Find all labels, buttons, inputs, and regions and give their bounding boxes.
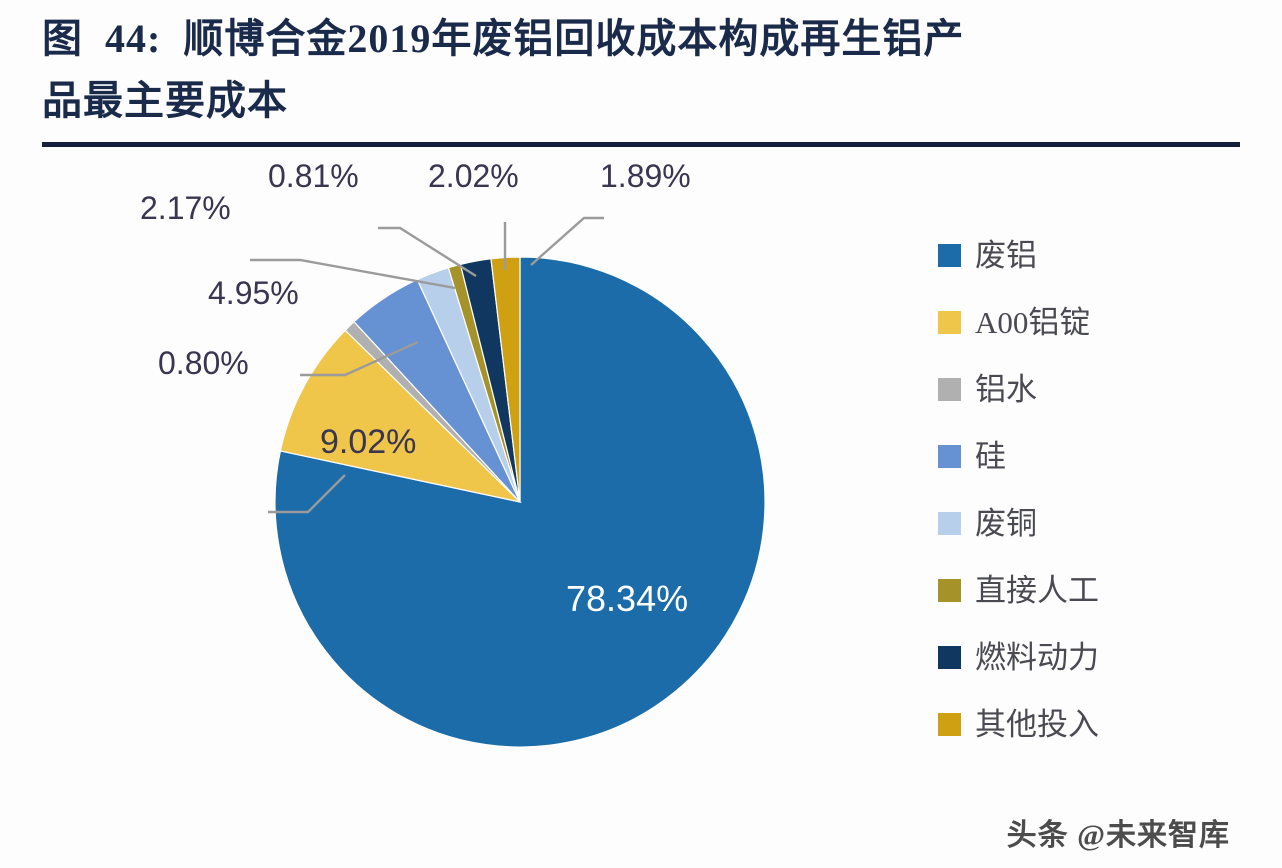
legend-item-label: A00铝锭	[975, 307, 1090, 338]
page-title: 图 44: 顺博合金2019年废铝回收成本构成再生铝产 品最主要成本	[42, 8, 1232, 132]
legend-item[interactable]: 废铝	[938, 238, 1238, 272]
legend-item[interactable]: 硅	[938, 439, 1238, 473]
legend-swatch-icon	[938, 713, 961, 736]
legend-item-label: 燃料动力	[975, 642, 1099, 673]
pct-label-0-81: 0.81%	[268, 158, 359, 195]
legend-item[interactable]: 直接人工	[938, 573, 1238, 607]
pct-label-2-02: 2.02%	[428, 158, 519, 195]
pct-label-0-80: 0.80%	[158, 345, 249, 382]
chart-page: 图 44: 顺博合金2019年废铝回收成本构成再生铝产 品最主要成本 2.17%…	[0, 0, 1282, 868]
legend-item-label: 硅	[975, 441, 1006, 472]
legend-item-label: 直接人工	[975, 575, 1099, 606]
legend-item-label: 铝水	[975, 374, 1037, 405]
pie-slices-group	[275, 257, 765, 747]
watermark: 头条 @未来智库	[1007, 810, 1230, 854]
legend-swatch-icon	[938, 512, 961, 535]
legend-swatch-icon	[938, 445, 961, 468]
legend-swatch-icon	[938, 579, 961, 602]
title-block: 图 44: 顺博合金2019年废铝回收成本构成再生铝产 品最主要成本	[42, 8, 1232, 132]
legend-item-label: 其他投入	[975, 709, 1099, 740]
pie-chart-area: 2.17% 0.81% 2.02% 1.89% 4.95% 0.80% 78.3…	[0, 160, 1282, 800]
legend-swatch-icon	[938, 311, 961, 334]
pct-label-2-17: 2.17%	[140, 190, 231, 227]
legend-swatch-icon	[938, 646, 961, 669]
title-divider	[42, 142, 1240, 147]
legend-item[interactable]: 废铜	[938, 506, 1238, 540]
chart-legend: 废铝A00铝锭铝水硅废铜直接人工燃料动力其他投入	[938, 238, 1238, 774]
legend-item-label: 废铜	[975, 508, 1037, 539]
legend-swatch-icon	[938, 244, 961, 267]
legend-item[interactable]: 其他投入	[938, 707, 1238, 741]
legend-swatch-icon	[938, 378, 961, 401]
legend-item[interactable]: 燃料动力	[938, 640, 1238, 674]
pct-label-78-34: 78.34%	[566, 578, 688, 620]
pct-label-4-95: 4.95%	[208, 275, 299, 312]
pct-label-1-89: 1.89%	[600, 158, 691, 195]
legend-item[interactable]: 铝水	[938, 372, 1238, 406]
pct-label-9-02: 9.02%	[320, 423, 416, 462]
legend-item[interactable]: A00铝锭	[938, 305, 1238, 339]
legend-item-label: 废铝	[975, 240, 1037, 271]
